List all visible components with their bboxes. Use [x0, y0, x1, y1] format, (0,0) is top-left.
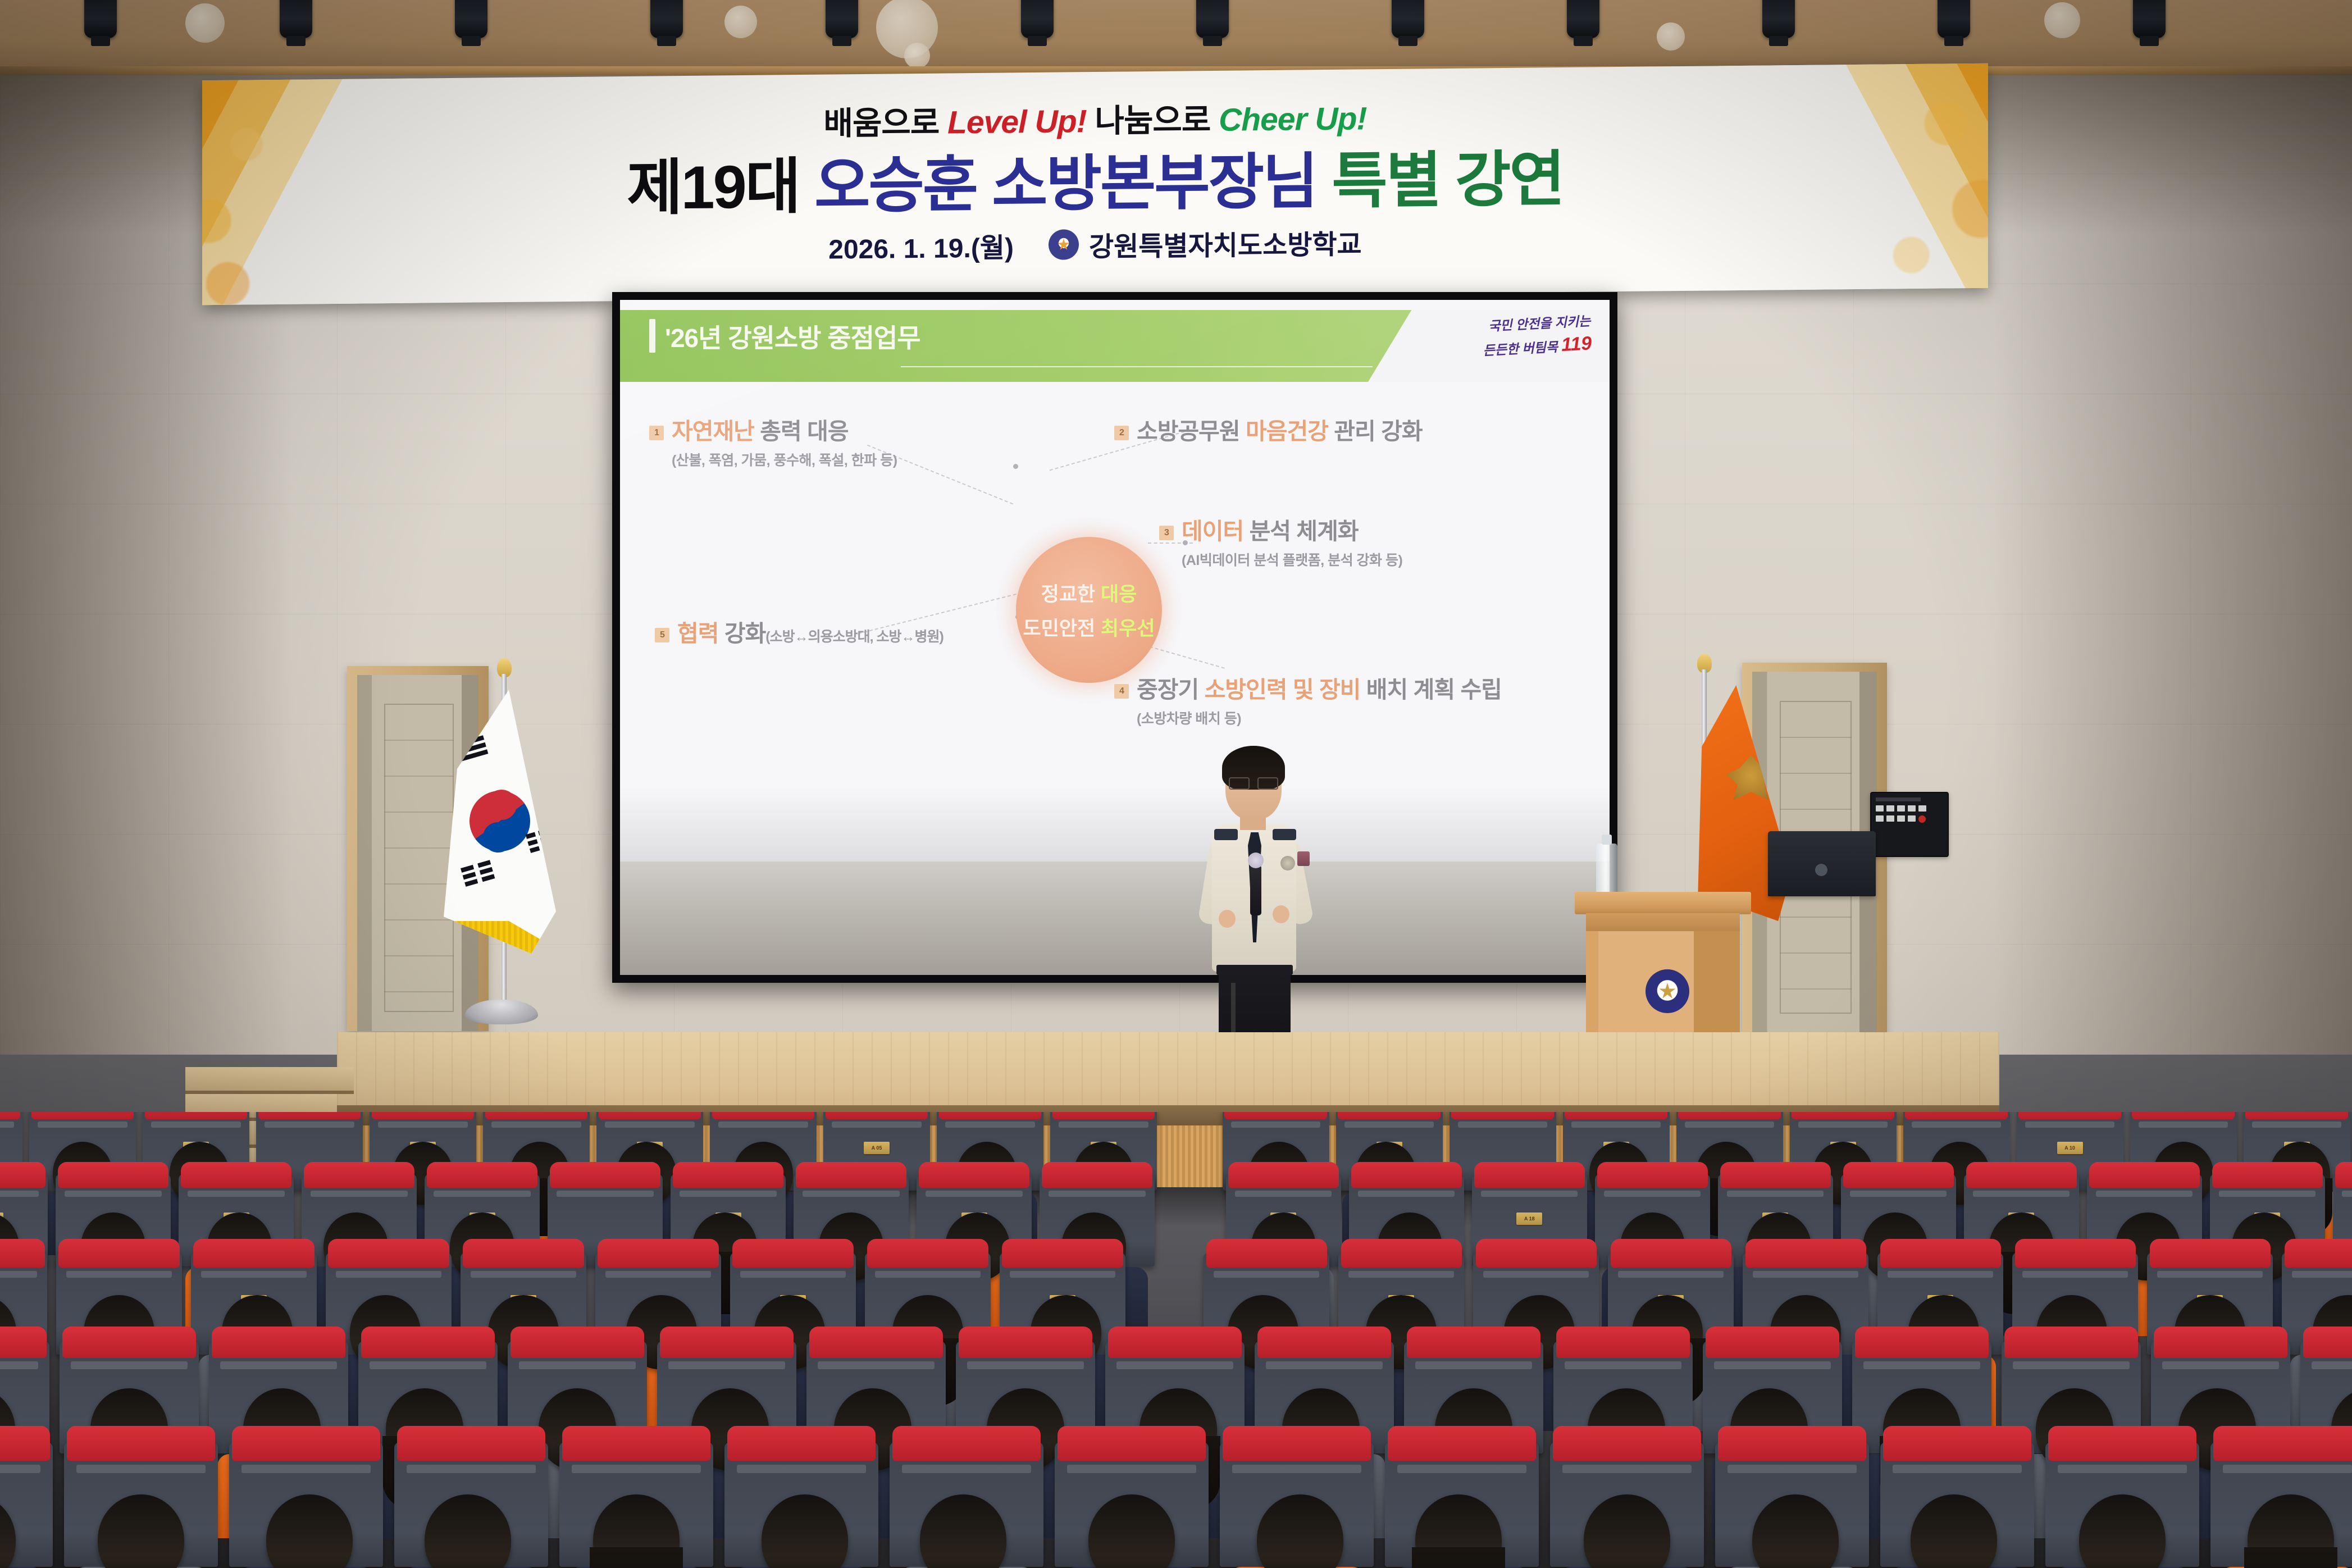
presentation-slide: '26년 강원소방 중점업무 국민 안전을 지키는 든든한 버팀목 119 [620, 300, 1610, 862]
event-banner: 배움으로 Level Up! 나눔으로 Cheer Up! 제19대 오승훈 소… [202, 63, 1988, 306]
trigram-gon-icon [461, 860, 495, 887]
ceiling-light [1657, 22, 1685, 51]
slide-item-1-rest: 총력 대응 [754, 418, 849, 444]
panel-button[interactable] [1908, 805, 1916, 812]
slide-item-3: 3데이터 분석 체계화 (AI빅데이터 분석 플랫폼, 분석 강화 등) [1159, 512, 1402, 569]
left-door-panel [384, 704, 454, 1012]
panel-power-button[interactable] [1918, 815, 1926, 823]
panel-button[interactable] [1918, 805, 1926, 812]
speaker-badge-icon [1280, 856, 1295, 870]
panel-button[interactable] [1876, 815, 1884, 822]
slide-item-1-number: 1 [649, 426, 664, 440]
center-line2-grey: 도민안전 [1023, 618, 1101, 640]
speaker-arm-patch-icon [1297, 851, 1310, 866]
seat-number-plate: A 10 [2057, 1142, 2083, 1154]
av-control-panel[interactable] [1870, 792, 1949, 857]
ceiling-speaker [84, 0, 117, 38]
stage-platform [337, 1032, 1999, 1116]
ceiling-speaker [1938, 0, 1970, 38]
glasses-icon [1229, 777, 1278, 787]
panel-button[interactable] [1876, 805, 1884, 812]
banner-title-name: 오승훈 소방본부장님 [814, 147, 1332, 220]
center-line2-yellow: 최우선 [1101, 618, 1155, 640]
speaker-right-hand [1273, 905, 1289, 923]
panel-button[interactable] [1886, 805, 1894, 812]
speaker-shoulder-board-right [1273, 829, 1296, 840]
screen-lower-blank [620, 862, 1610, 975]
slide-item-5: 5협력 강화(소방↔의용소방대, 소방↔병원) [655, 614, 943, 648]
ceiling-light [2044, 2, 2080, 38]
slide-item-2-pre: 소방공무원 [1137, 418, 1246, 444]
banner-title-ordinal: 제19대 [627, 152, 814, 222]
banner-date: 2026. 1. 19.(월) [828, 225, 1014, 266]
ceiling-light [724, 6, 757, 38]
slide-item-2-rest: 관리 강화 [1328, 418, 1423, 444]
speaker-person [1196, 741, 1314, 1078]
slide-item-5-rest: 강화 [718, 621, 765, 646]
slide-item-5-number: 5 [655, 628, 669, 642]
ceiling-light [185, 3, 225, 43]
ceiling-speaker [1021, 0, 1054, 38]
slide-item-3-number: 3 [1159, 526, 1174, 540]
slide-title-rule [901, 366, 1373, 367]
slogan-line-2: 든든한 버팀목 [1483, 339, 1558, 358]
podium-band [1586, 913, 1740, 932]
slide-item-4-pre: 중장기 [1137, 677, 1205, 703]
slide-item-1-sub: (산불, 폭염, 가뭄, 풍수해, 폭설, 한파 등) [672, 449, 897, 470]
center-line1-yellow: 대응 [1101, 584, 1137, 605]
slide-item-5-highlight: 협력 [677, 621, 718, 646]
banner-title-line: 제19대 오승훈 소방본부장님 특별 강연 [202, 126, 1988, 231]
speaker-left-hand [1219, 910, 1236, 928]
slide-title-accent [649, 319, 655, 353]
laptop-lid [1768, 831, 1876, 896]
banner-title-suffix: 특별 강연 [1332, 145, 1563, 215]
left-flag-base [465, 1000, 538, 1024]
ceiling-speaker [650, 0, 683, 38]
panel-button[interactable] [1908, 815, 1916, 822]
center-line1-grey: 정교한 [1041, 584, 1101, 605]
slide-item-1-highlight: 자연재난 [672, 418, 754, 444]
speaker-shoulder-board-left [1214, 829, 1238, 840]
slide-item-2: 2소방공무원 마음건강 관리 강화 [1114, 412, 1423, 446]
slide-item-1: 1자연재난 총력 대응 (산불, 폭염, 가뭄, 풍수해, 폭설, 한파 등) [649, 412, 897, 470]
laptop-on-podium [1768, 831, 1876, 896]
slogan-119: 119 [1561, 332, 1592, 355]
fire-service-emblem-icon [1049, 229, 1079, 260]
connector-dot [1013, 464, 1018, 469]
slide-item-4-sub: (소방차량 배치 등) [1137, 708, 1502, 728]
slide-item-3-sub: (AI빅데이터 분석 플랫폼, 분석 강화 등) [1182, 549, 1402, 569]
laptop-logo-icon [1815, 864, 1827, 876]
wall-shadow-right [1993, 66, 2352, 1055]
auditorium-photo: 배움으로 Level Up! 나눔으로 Cheer Up! 제19대 오승훈 소… [0, 0, 2352, 1568]
ceiling-speaker [455, 0, 487, 38]
slide-item-4-rest: 배치 계획 수립 [1360, 677, 1502, 703]
panel-button-row[interactable] [1876, 805, 1943, 812]
panel-label-strip [1876, 797, 1921, 801]
ceiling-speaker [280, 0, 312, 38]
slide-body: 정교한 대응 도민안전 최우선 1자연재난 총력 대응 (산불, 폭염, 가뭄,… [620, 390, 1610, 862]
slide-title: '26년 강원소방 중점업무 [665, 318, 920, 355]
slide-item-2-number: 2 [1114, 426, 1129, 440]
ceiling [0, 0, 2352, 74]
panel-button-row[interactable] [1876, 815, 1943, 823]
ceiling-speaker [1392, 0, 1424, 38]
projection-screen: '26년 강원소방 중점업무 국민 안전을 지키는 든든한 버팀목 119 [620, 300, 1610, 975]
seat-number-plate: A 18 [1516, 1213, 1542, 1225]
slide-item-4-number: 4 [1114, 684, 1129, 699]
podium-top-surface [1575, 892, 1751, 914]
ceiling-speaker [2133, 0, 2166, 38]
podium-seal-icon [1646, 969, 1689, 1013]
banner-organization: 강원특별자치도소방학교 [1089, 222, 1362, 264]
ceiling-speaker [1762, 0, 1795, 38]
panel-button[interactable] [1897, 815, 1905, 822]
ceiling-speaker [1567, 0, 1599, 38]
seat-number-plate: A 05 [864, 1142, 890, 1154]
taeguk-symbol-icon [462, 783, 537, 859]
slide-item-4: 4중장기 소방인력 및 장비 배치 계획 수립 (소방차량 배치 등) [1114, 671, 1502, 728]
microphone-icon [1250, 865, 1261, 915]
slide-item-3-rest: 분석 체계화 [1243, 518, 1358, 544]
ceiling-light [904, 43, 930, 69]
panel-button[interactable] [1897, 805, 1905, 812]
slide-item-4-highlight: 소방인력 및 장비 [1205, 677, 1361, 703]
slide-item-5-inline-sub: (소방↔의용소방대, 소방↔병원) [765, 629, 943, 645]
water-bottle [1596, 844, 1617, 895]
slide-center-circle: 정교한 대응 도민안전 최우선 [1016, 537, 1162, 683]
panel-button[interactable] [1886, 815, 1894, 822]
stage-step [185, 1067, 354, 1094]
ceiling-speaker [1196, 0, 1229, 38]
slide-item-3-highlight: 데이터 [1182, 518, 1243, 544]
fire-service-slogan: 국민 안전을 지키는 든든한 버팀목 119 [1382, 308, 1593, 379]
ceiling-speaker [826, 0, 858, 38]
audience-seating: A 01A 02A 03A 04A 05A 06A 07A 08A 09A 10… [0, 1112, 2352, 1568]
stage-wood-grain [337, 1032, 1999, 1116]
slide-item-2-highlight: 마음건강 [1246, 418, 1328, 444]
